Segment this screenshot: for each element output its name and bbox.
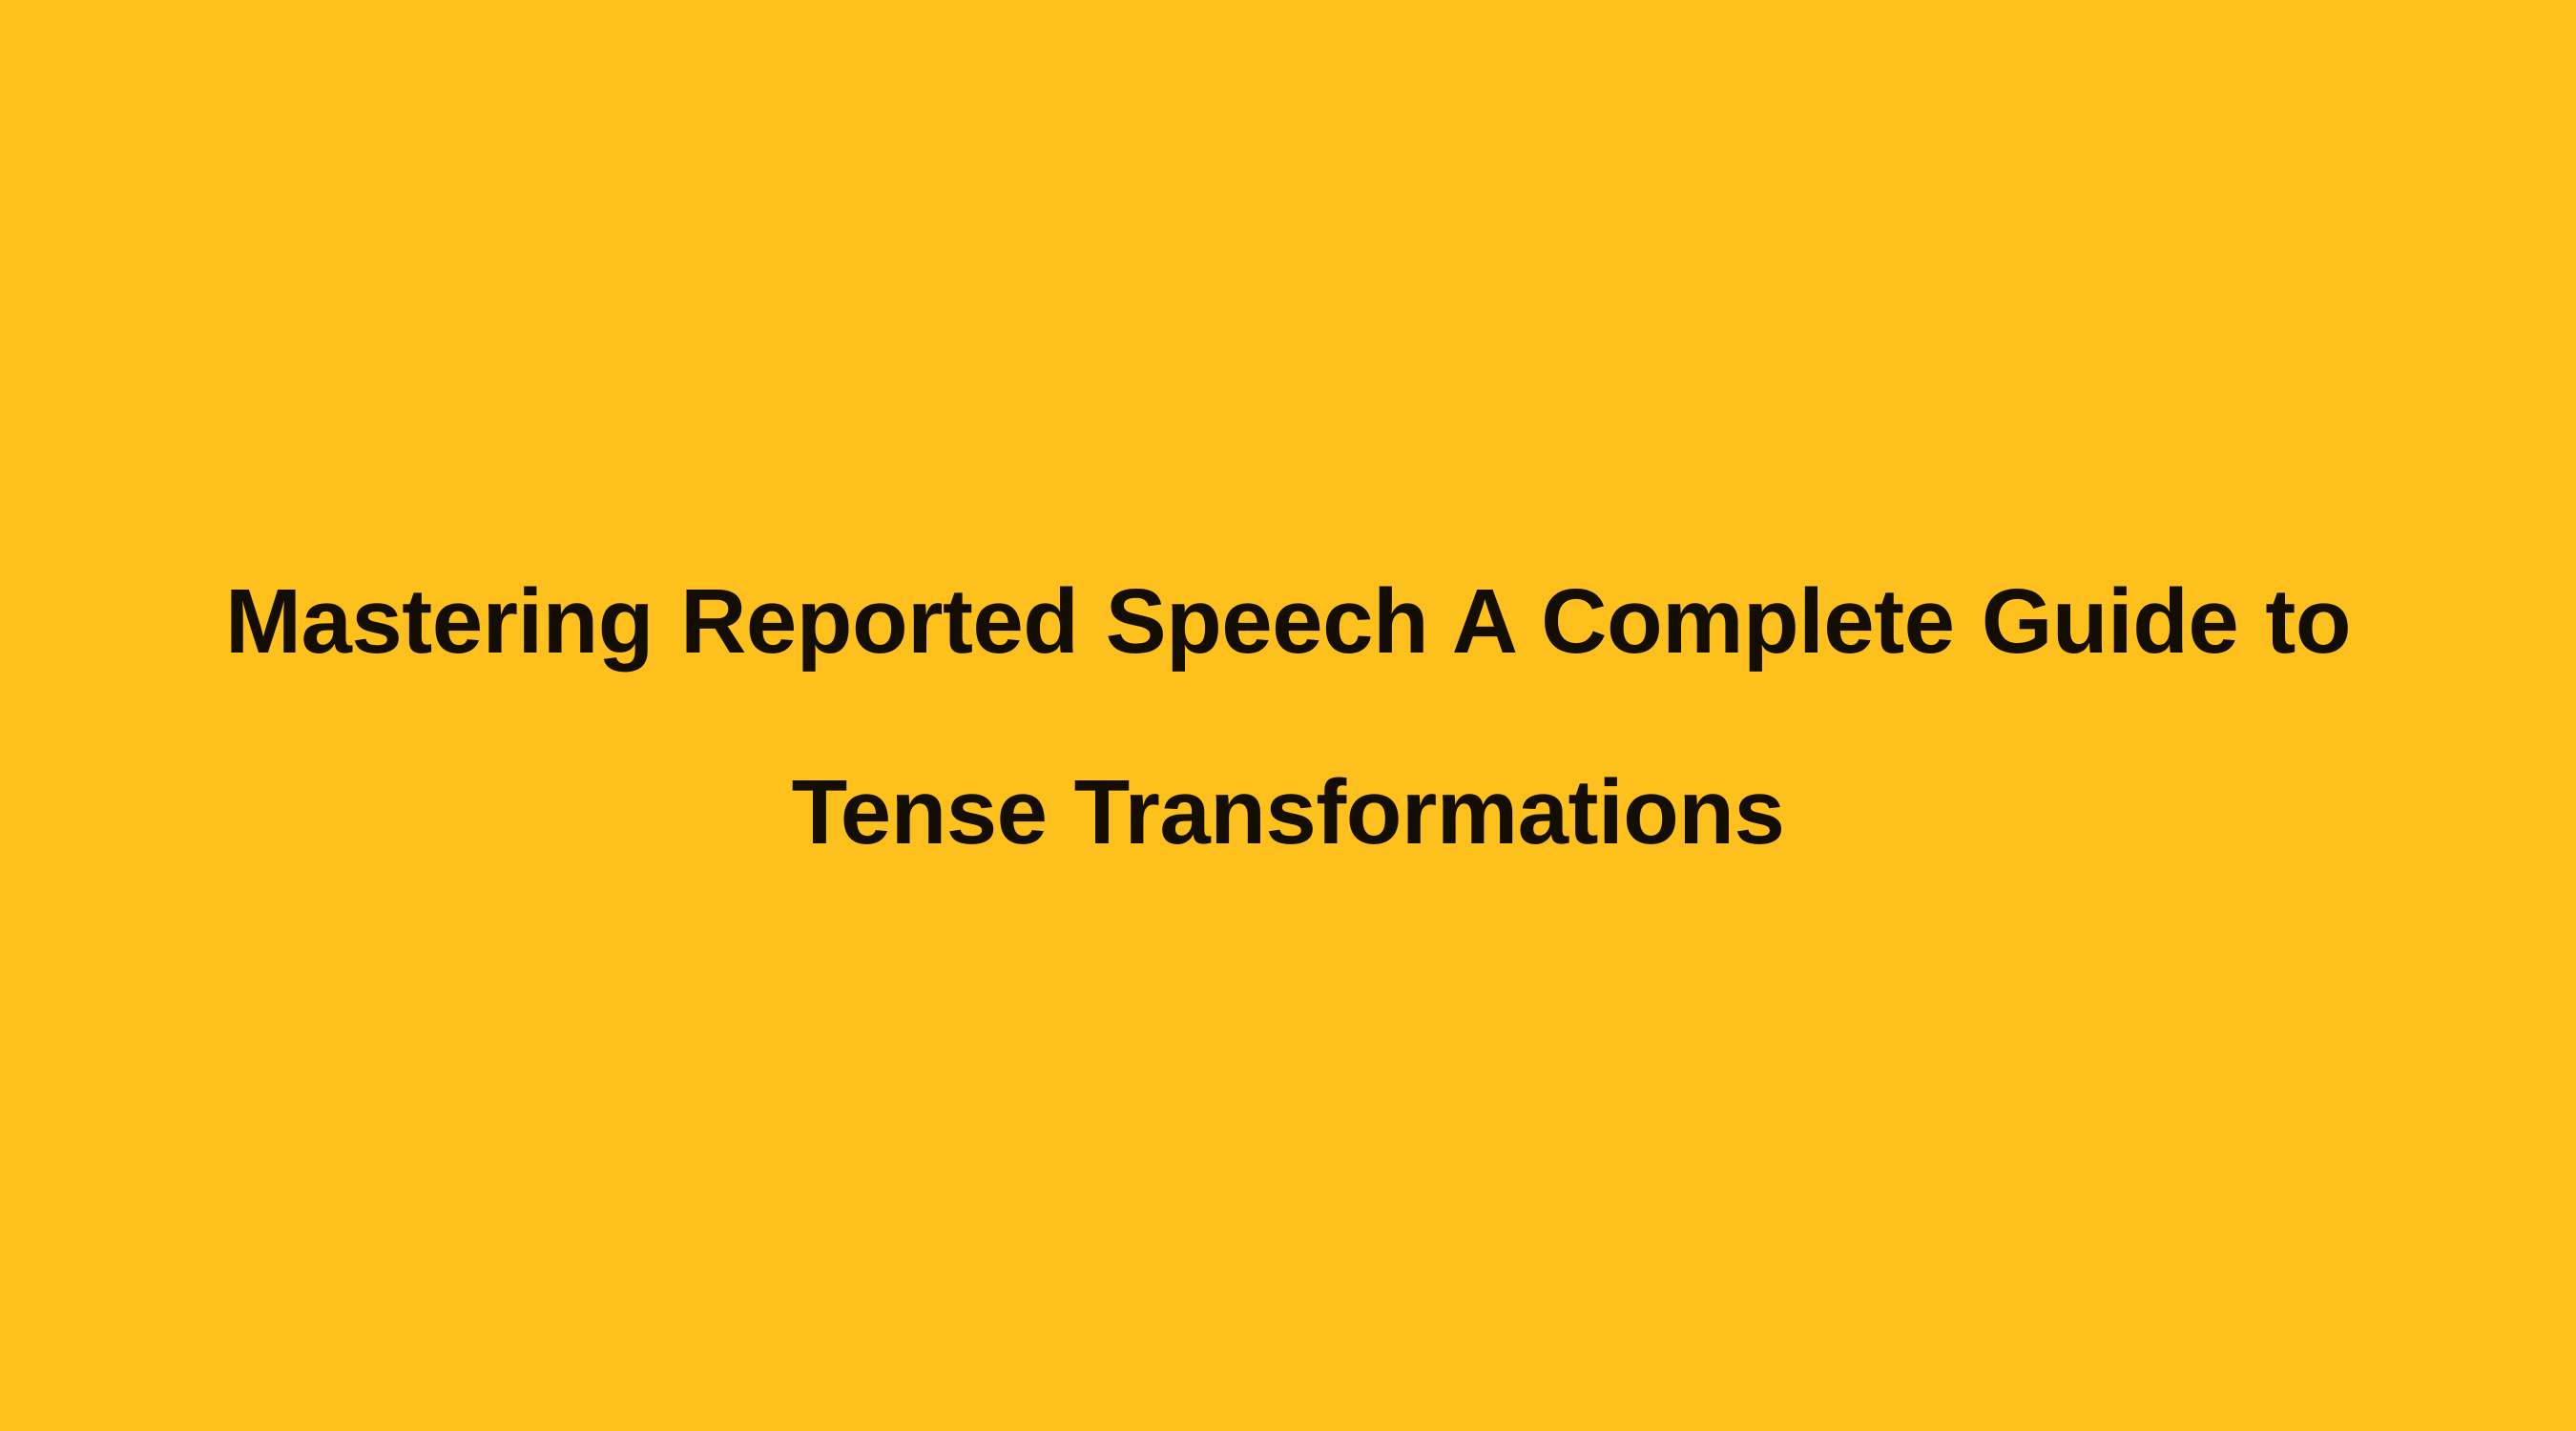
- article-title-card: Mastering Reported Speech A Complete Gui…: [0, 0, 2576, 1431]
- page-title: Mastering Reported Speech A Complete Gui…: [110, 527, 2466, 908]
- title-block: Mastering Reported Speech A Complete Gui…: [0, 527, 2576, 908]
